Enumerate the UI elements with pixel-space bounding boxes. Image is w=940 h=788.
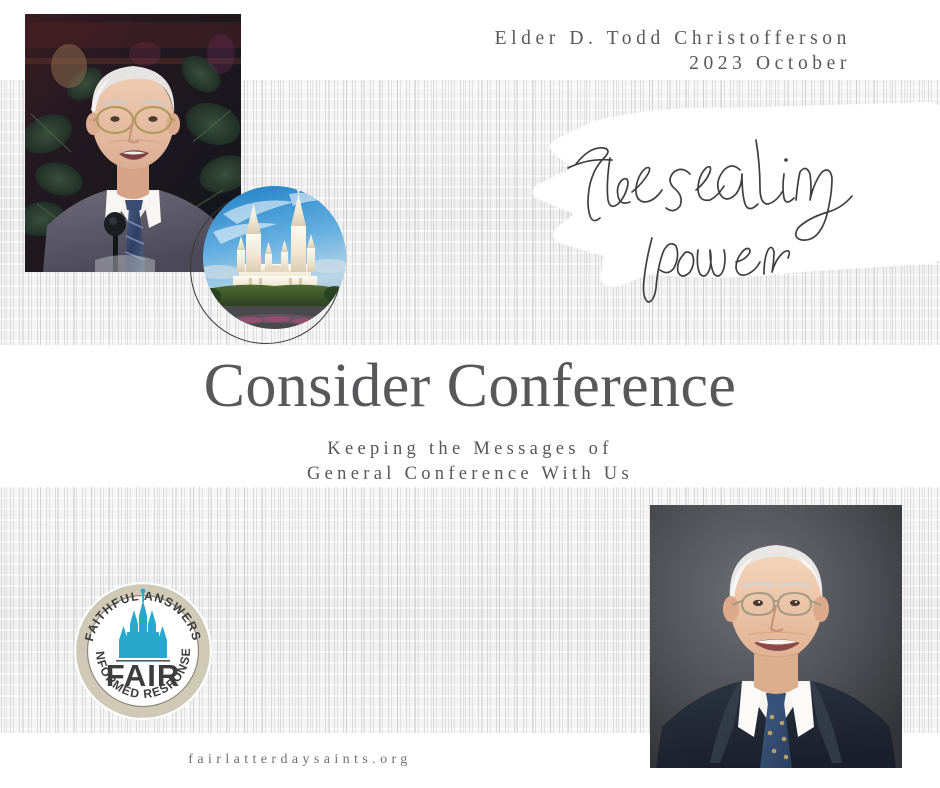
speaker-name: Elder D. Todd Christofferson: [0, 26, 851, 51]
page-subtitle: Keeping the Messages of General Conferen…: [0, 437, 940, 487]
subtitle-line-2: General Conference With Us: [0, 462, 940, 487]
san-diego-temple-circle-photo: [203, 186, 346, 329]
header-text-block: Elder D. Todd Christofferson 2023 Octobe…: [0, 26, 851, 76]
website-url-text: fairlatterdaysaints.org: [188, 752, 411, 768]
subtitle-line-1: Keeping the Messages of: [0, 437, 940, 462]
conference-date: 2023 October: [0, 51, 851, 76]
fair-logo[interactable]: FAITHFUL ANSWERS INFORMED RESPONSE: [72, 580, 214, 722]
script-headline: [560, 112, 890, 272]
website-url: fairlatterdaysaints.org: [0, 752, 940, 768]
elder-christofferson-portrait-photo: [650, 505, 902, 768]
poster-canvas: Elder D. Todd Christofferson 2023 Octobe…: [0, 0, 940, 788]
page-title: Consider Conference: [0, 355, 940, 417]
logo-wordmark: FAIR: [106, 658, 181, 693]
